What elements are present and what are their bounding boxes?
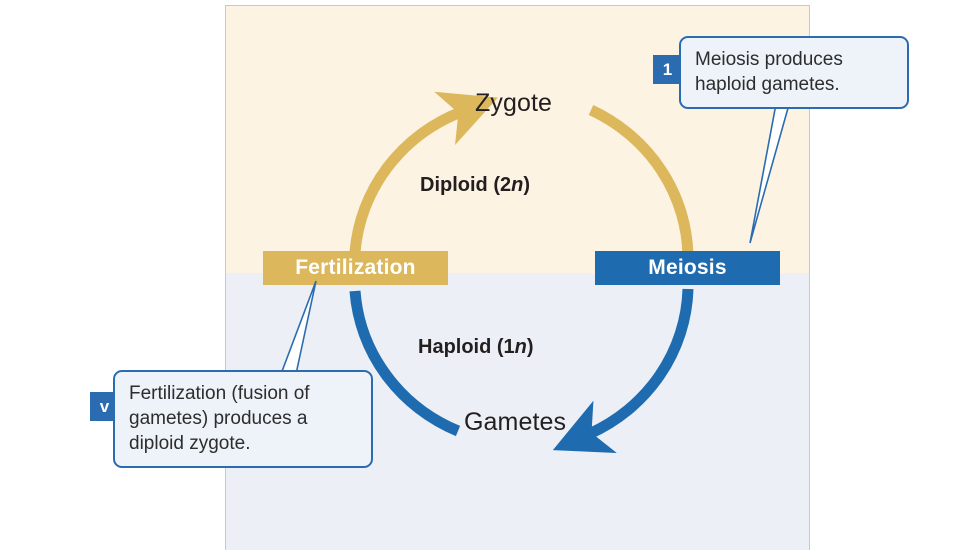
region-label-diploid-close: ) <box>523 174 530 196</box>
region-label-haploid-text: Haploid (1 <box>418 336 515 358</box>
callout-fertilization[interactable]: Fertilization (fusion of gametes) produc… <box>113 370 373 468</box>
node-label-gametes: Gametes <box>464 408 566 437</box>
callout-meiosis[interactable]: Meiosis produces haploid gametes. <box>679 36 909 109</box>
region-label-diploid-n: n <box>511 174 523 196</box>
callout-badge-1[interactable]: 1 <box>653 55 682 84</box>
region-label-diploid: Diploid (2n) <box>420 174 530 197</box>
node-label-zygote: Zygote <box>475 89 552 118</box>
region-label-haploid-n: n <box>515 336 527 358</box>
process-box-meiosis: Meiosis <box>595 251 780 285</box>
gold-arc-right <box>591 110 688 258</box>
region-label-haploid: Haploid (1n) <box>418 336 534 359</box>
process-box-fertilization: Fertilization <box>263 251 448 285</box>
blue-arc-right-to-gametes <box>589 289 688 434</box>
region-label-haploid-close: ) <box>527 336 534 358</box>
region-label-diploid-text: Diploid (2 <box>420 174 511 196</box>
